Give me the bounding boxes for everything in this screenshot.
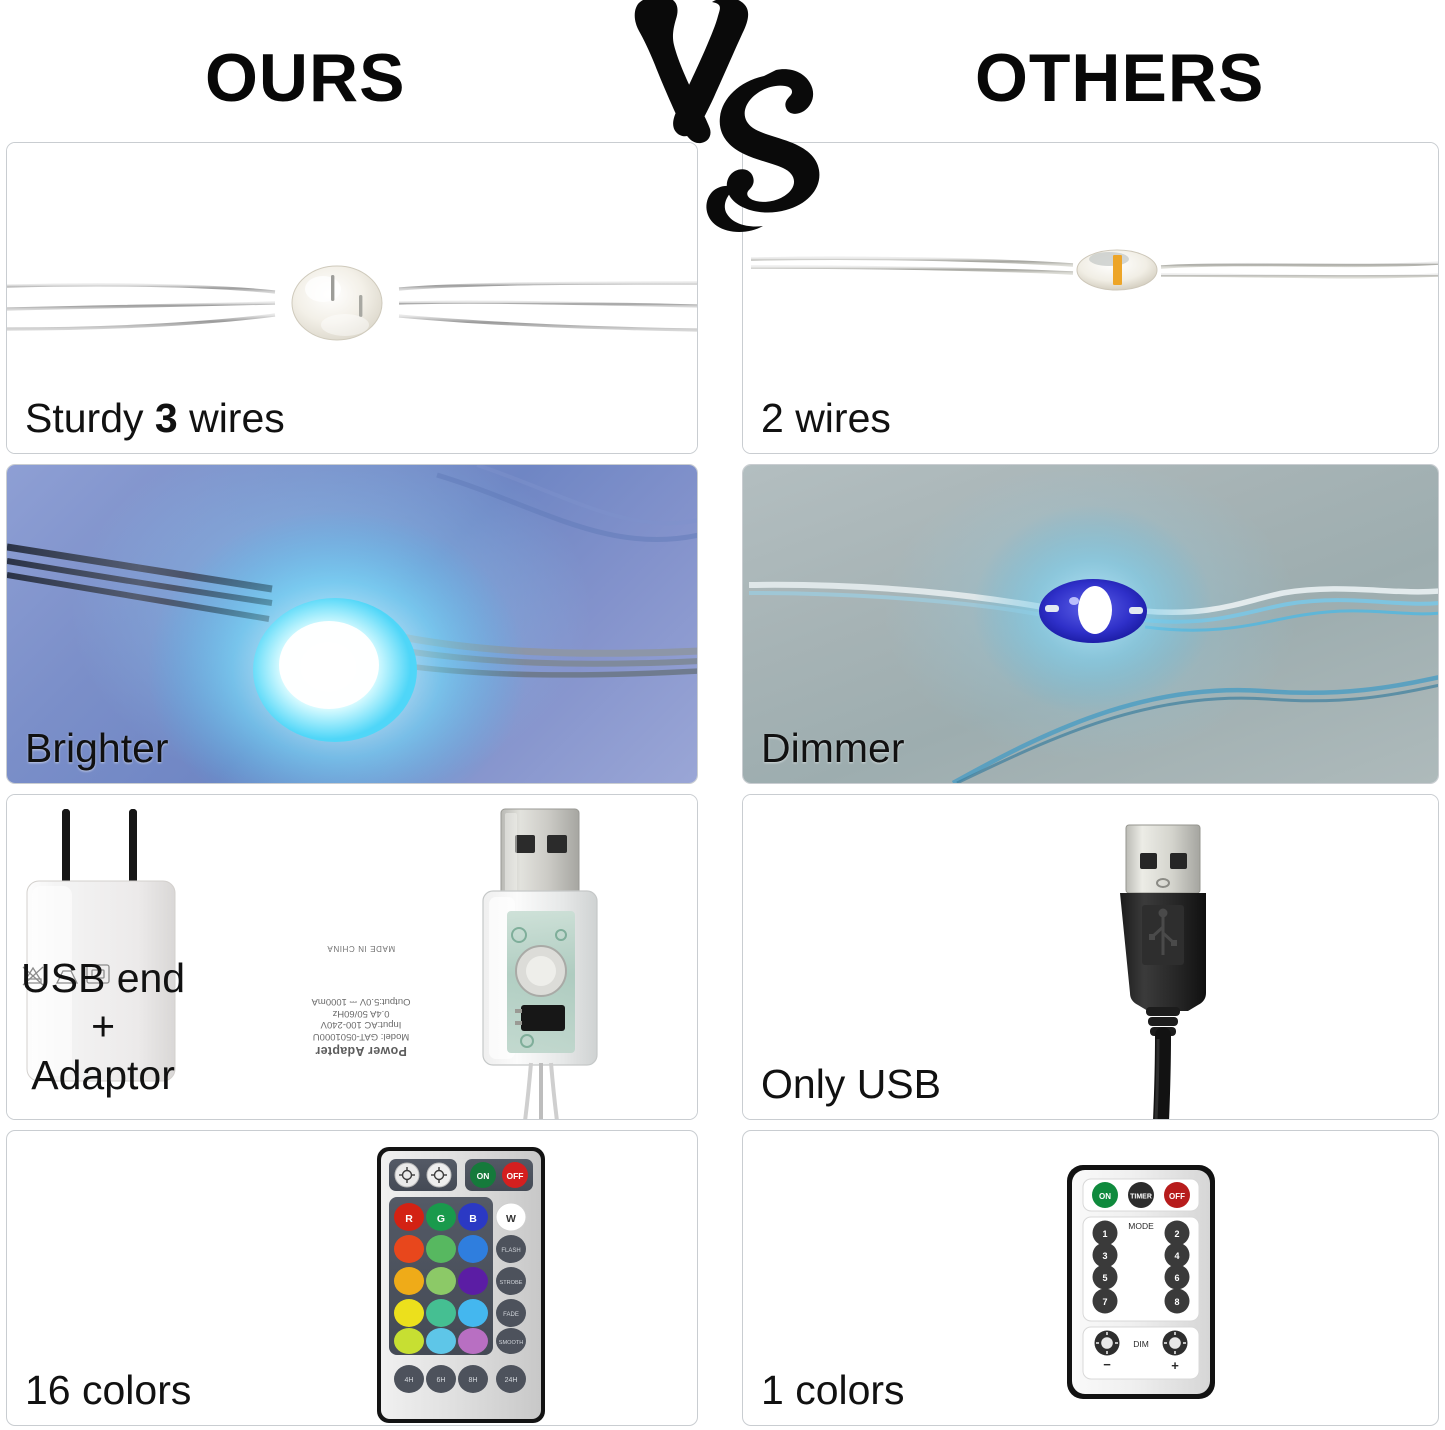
panel-ours-brightness: Brighter — [6, 464, 698, 784]
svg-text:G: G — [437, 1213, 445, 1225]
caption-plus: + — [21, 1002, 185, 1050]
panel-others-power: Only USB — [742, 794, 1439, 1120]
caption-ours-brightness: Brighter — [25, 728, 169, 769]
svg-text:OFF: OFF — [1169, 1192, 1185, 1201]
remote-13key[interactable]: ON TIMER OFF MODE 12 34 — [1065, 1163, 1217, 1401]
panel-others-wires: 2 wires — [742, 142, 1439, 454]
svg-text:STROBE: STROBE — [499, 1280, 522, 1286]
svg-text:4H: 4H — [405, 1377, 414, 1384]
svg-text:ON: ON — [477, 1171, 490, 1181]
svg-text:OFF: OFF — [507, 1171, 524, 1181]
adapter-input: Input:AC 100-240V — [286, 1019, 436, 1031]
panel-ours-remote: ON OFF R G B W — [6, 1130, 698, 1426]
panel-others-remote: ON TIMER OFF MODE 12 34 — [742, 1130, 1439, 1426]
svg-text:−: − — [1103, 1357, 1111, 1372]
caption-others-remote: 1 colors — [761, 1370, 905, 1411]
caption-ours-remote: 16 colors — [25, 1370, 191, 1411]
ours-heading: OURS — [205, 44, 405, 112]
comparison-infographic: OURS OTHERS — [0, 0, 1445, 1430]
svg-text:ON: ON — [1099, 1192, 1111, 1201]
svg-text:FADE: FADE — [503, 1312, 519, 1318]
svg-text:7: 7 — [1102, 1297, 1107, 1307]
remote-44key[interactable]: ON OFF R G B W — [375, 1145, 547, 1425]
svg-text:4: 4 — [1174, 1251, 1179, 1261]
adapter-title: Power Adapter — [286, 1042, 436, 1058]
panel-others-brightness: Dimmer — [742, 464, 1439, 784]
svg-text:5: 5 — [1102, 1273, 1107, 1283]
svg-text:2: 2 — [1174, 1229, 1179, 1239]
caption-adaptor: Adaptor — [21, 1051, 185, 1099]
panel-ours-wires: Sturdy 3 wires — [6, 142, 698, 454]
adapter-frequency: 0.4A 50/60Hz — [286, 1007, 436, 1019]
caption-others-power: Only USB — [761, 1064, 941, 1105]
svg-text:+: + — [1171, 1358, 1179, 1373]
caption-others-brightness: Dimmer — [761, 728, 904, 769]
svg-text:FLASH: FLASH — [501, 1248, 520, 1254]
svg-text:W: W — [506, 1213, 516, 1225]
svg-text:24H: 24H — [505, 1377, 518, 1384]
panel-grid: Sturdy 3 wires — [0, 138, 1445, 1430]
svg-text:SMOOTH: SMOOTH — [499, 1340, 524, 1346]
svg-text:R: R — [405, 1213, 413, 1225]
adapter-printed-label: Power Adapter Model: GAT-0501000U Input:… — [286, 888, 436, 1058]
svg-text:MODE: MODE — [1128, 1221, 1154, 1231]
svg-text:1: 1 — [1102, 1229, 1107, 1239]
caption-usb-end: USB end — [21, 954, 185, 1002]
others-heading: OTHERS — [975, 44, 1264, 112]
svg-text:3: 3 — [1102, 1251, 1107, 1261]
caption-ours-wires: Sturdy 3 wires — [25, 398, 285, 439]
svg-text:B: B — [469, 1213, 477, 1225]
svg-text:8H: 8H — [469, 1377, 478, 1384]
svg-text:6H: 6H — [437, 1377, 446, 1384]
adapter-output: Output:5.0V ⎓ 1000mA — [286, 995, 436, 1007]
svg-text:DIM: DIM — [1133, 1339, 1149, 1349]
caption-others-wires: 2 wires — [761, 398, 891, 439]
svg-text:6: 6 — [1174, 1273, 1179, 1283]
svg-text:8: 8 — [1174, 1297, 1179, 1307]
svg-text:TIMER: TIMER — [1130, 1194, 1152, 1201]
caption-ours-power: USB end + Adaptor — [21, 954, 185, 1099]
adapter-origin: MADE IN CHINA — [286, 943, 436, 953]
adapter-model: Model: GAT-0501000U — [286, 1031, 436, 1043]
header: OURS OTHERS — [0, 0, 1445, 140]
